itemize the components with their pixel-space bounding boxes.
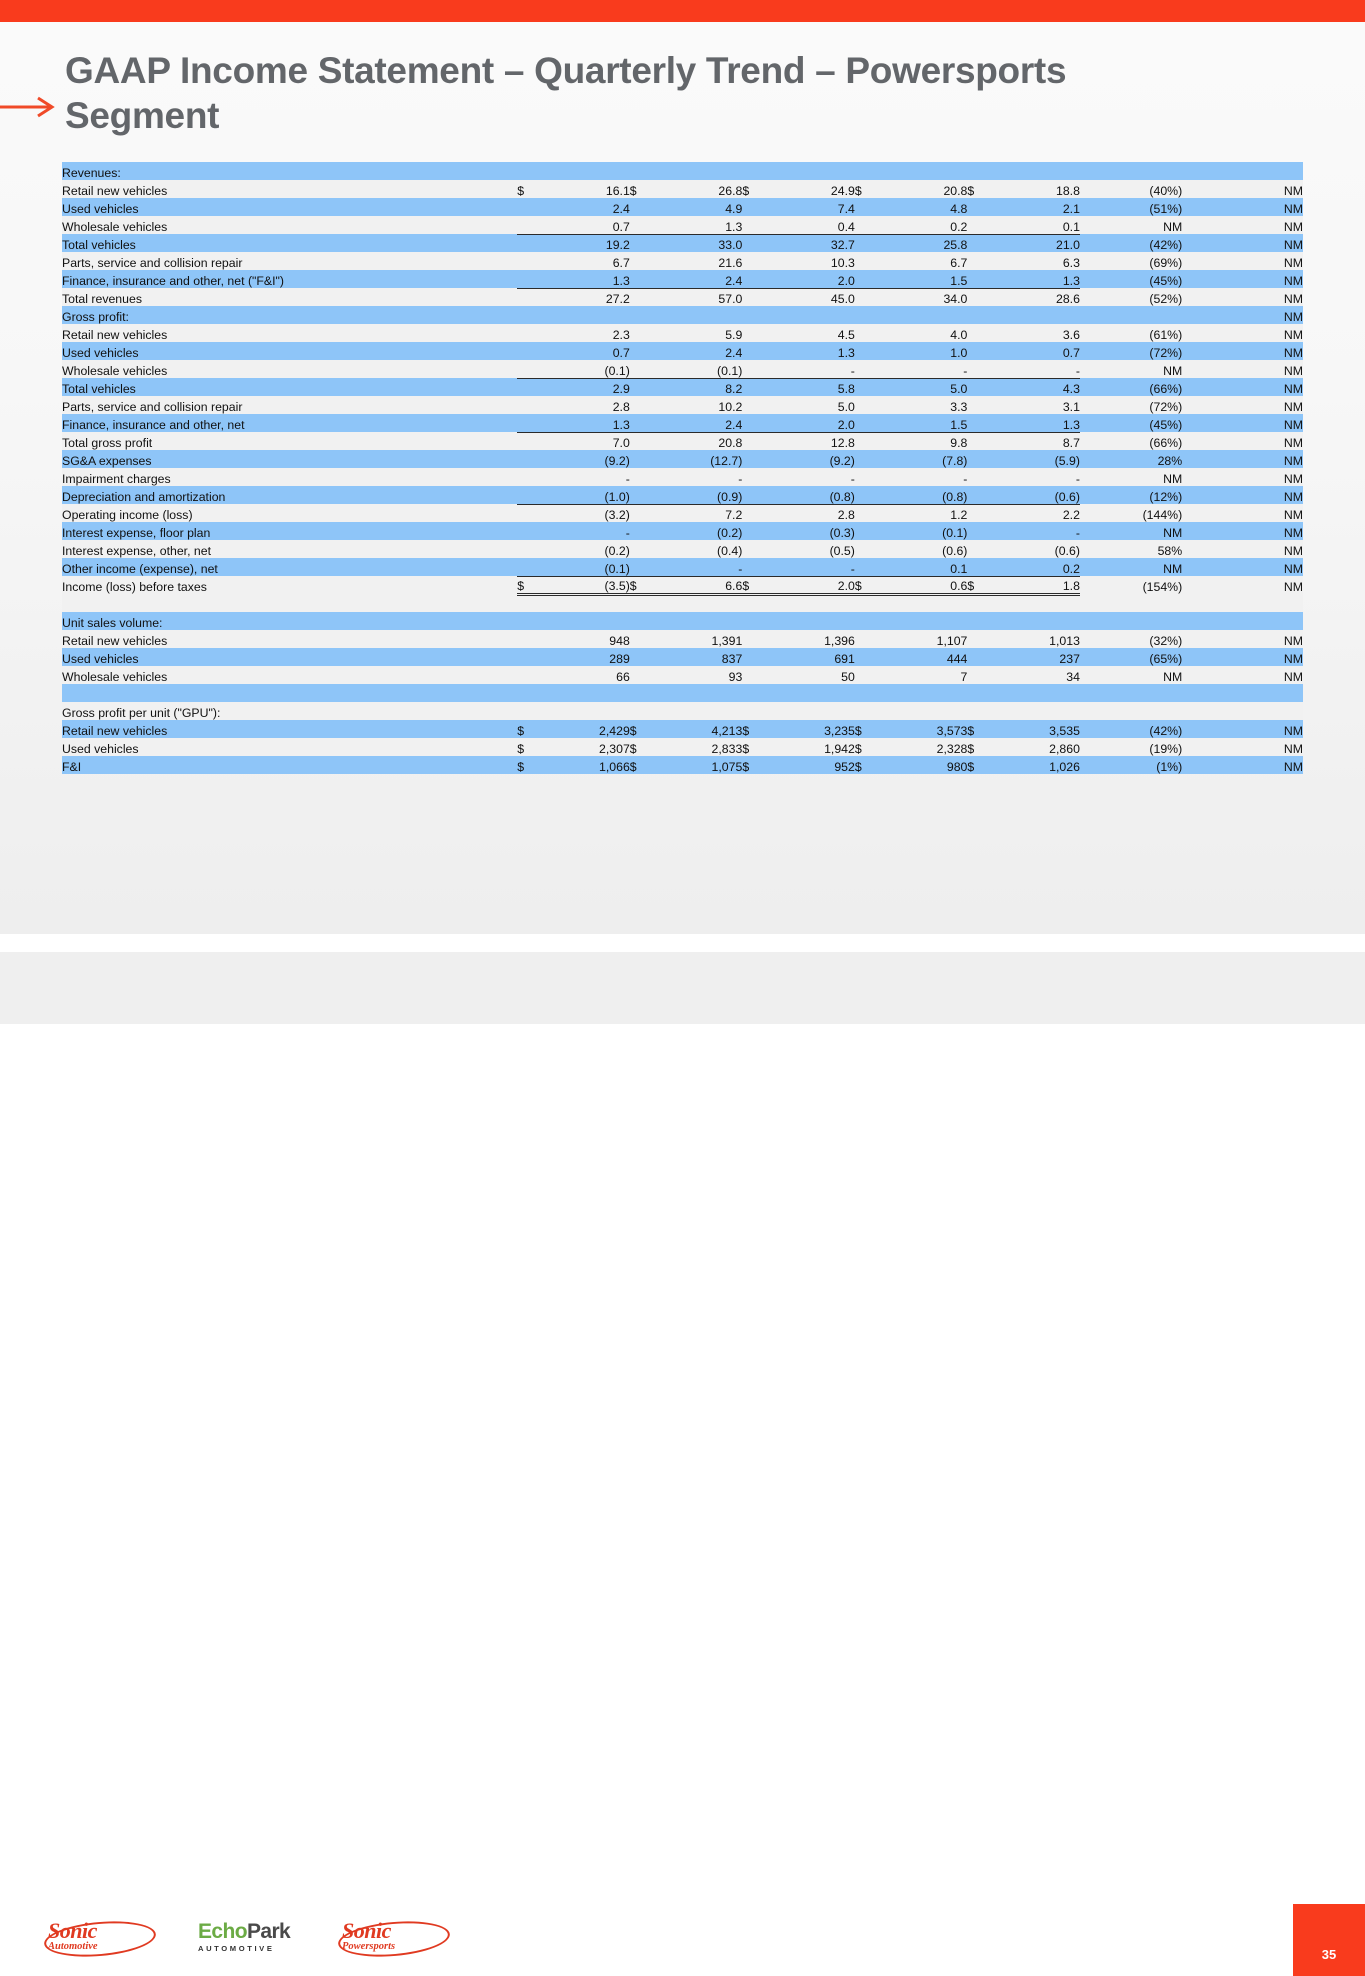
cell-sequential: (45%) [1080, 414, 1182, 432]
currency-symbol [630, 648, 653, 666]
table-row: Gross profit per unit ("GPU"): [62, 702, 1303, 720]
cell-value: 0.7 [540, 216, 630, 234]
cell-value [765, 162, 855, 180]
row-label [62, 684, 517, 702]
currency-symbol [855, 216, 878, 234]
cell-value: 6.3 [990, 252, 1080, 270]
currency-symbol [517, 612, 540, 630]
cell-value: 45.0 [765, 288, 855, 306]
row-label: Used vehicles [62, 648, 517, 666]
currency-symbol [855, 432, 878, 450]
currency-symbol [517, 378, 540, 396]
cell-year-over-year: NM [1182, 666, 1303, 684]
cell-value: 1.3 [540, 270, 630, 288]
currency-symbol [967, 342, 990, 360]
cell-year-over-year: NM [1182, 414, 1303, 432]
cell-sequential [1080, 612, 1182, 630]
cell-sequential [1080, 306, 1182, 324]
cell-year-over-year: NM [1182, 378, 1303, 396]
cell-value: 3.6 [990, 324, 1080, 342]
cell-value: 27.2 [540, 288, 630, 306]
row-label: SG&A expenses [62, 450, 517, 468]
currency-symbol [855, 504, 878, 522]
row-label: Retail new vehicles [62, 180, 517, 198]
cell-sequential: NM [1080, 522, 1182, 540]
cell-value: 4.5 [765, 324, 855, 342]
currency-symbol [855, 342, 878, 360]
cell-value: - [877, 468, 967, 486]
cell-sequential [1080, 702, 1182, 720]
currency-symbol [630, 666, 653, 684]
currency-symbol [742, 630, 765, 648]
cell-value [877, 612, 967, 630]
cell-sequential: (61%) [1080, 324, 1182, 342]
currency-symbol [630, 288, 653, 306]
cell-value: 28.6 [990, 288, 1080, 306]
echopark-automotive-logo: EchoPark AUTOMOTIVE [198, 1920, 300, 1960]
cell-value: 7.4 [765, 198, 855, 216]
currency-symbol [855, 612, 878, 630]
table-row: Total gross profit7.020.812.89.88.7(66%)… [62, 432, 1303, 450]
currency-symbol: $ [742, 720, 765, 738]
currency-symbol [630, 486, 653, 504]
currency-symbol [967, 378, 990, 396]
table-row: Used vehicles$2,307$2,833$1,942$2,328$2,… [62, 738, 1303, 756]
row-label: Retail new vehicles [62, 720, 517, 738]
cell-value: (3.5) [540, 576, 630, 594]
cell-value: 0.7 [990, 342, 1080, 360]
cell-value: 3.1 [990, 396, 1080, 414]
cell-value: 2.0 [765, 414, 855, 432]
currency-symbol [967, 666, 990, 684]
arrow-icon [0, 92, 60, 122]
cell-value: 24.9 [765, 180, 855, 198]
row-label: Used vehicles [62, 342, 517, 360]
cell-value: 1.3 [990, 270, 1080, 288]
currency-symbol: $ [630, 720, 653, 738]
cell-year-over-year: NM [1182, 540, 1303, 558]
cell-value: 6.7 [540, 252, 630, 270]
currency-symbol [967, 162, 990, 180]
cell-value: 5.0 [877, 378, 967, 396]
currency-symbol [742, 198, 765, 216]
cell-value: 33.0 [652, 234, 742, 252]
top-accent-bar [0, 0, 1365, 22]
cell-value: 2.0 [765, 576, 855, 594]
cell-sequential: (65%) [1080, 648, 1182, 666]
currency-symbol [967, 648, 990, 666]
currency-symbol [517, 432, 540, 450]
cell-value [652, 612, 742, 630]
row-label: Revenues: [62, 162, 517, 180]
cell-value [765, 612, 855, 630]
cell-sequential: 28% [1080, 450, 1182, 468]
currency-symbol [855, 306, 878, 324]
currency-symbol [855, 360, 878, 378]
currency-symbol [517, 306, 540, 324]
cell-sequential: NM [1080, 666, 1182, 684]
cell-value [652, 684, 742, 702]
cell-value: 2.3 [540, 324, 630, 342]
cell-value: 2.2 [990, 504, 1080, 522]
cell-value: (0.1) [877, 522, 967, 540]
cell-value [540, 612, 630, 630]
cell-value: (0.8) [765, 486, 855, 504]
currency-symbol [517, 558, 540, 576]
currency-symbol [967, 486, 990, 504]
cell-value: 237 [990, 648, 1080, 666]
currency-symbol [855, 378, 878, 396]
currency-symbol: $ [517, 756, 540, 774]
currency-symbol [630, 360, 653, 378]
cell-value: 0.2 [877, 216, 967, 234]
cell-sequential: (69%) [1080, 252, 1182, 270]
currency-symbol [967, 234, 990, 252]
row-label: Retail new vehicles [62, 324, 517, 342]
currency-symbol [630, 684, 653, 702]
cell-sequential: 58% [1080, 540, 1182, 558]
cell-value: 3,535 [990, 720, 1080, 738]
cell-value: (0.2) [540, 540, 630, 558]
cell-value: 2.4 [652, 270, 742, 288]
currency-symbol: $ [855, 738, 878, 756]
cell-sequential: (19%) [1080, 738, 1182, 756]
cell-value: - [540, 468, 630, 486]
currency-symbol: $ [967, 576, 990, 594]
footer-strip: Sonic Automotive EchoPark AUTOMOTIVE Son… [0, 952, 1365, 1024]
cell-sequential: (12%) [1080, 486, 1182, 504]
currency-symbol [855, 648, 878, 666]
cell-sequential: NM [1080, 216, 1182, 234]
currency-symbol: $ [742, 738, 765, 756]
currency-symbol [630, 234, 653, 252]
currency-symbol: $ [517, 720, 540, 738]
table-row: Other income (expense), net(0.1)--0.10.2… [62, 558, 1303, 576]
currency-symbol [742, 666, 765, 684]
cell-sequential [1080, 162, 1182, 180]
cell-value: 691 [765, 648, 855, 666]
cell-year-over-year: NM [1182, 738, 1303, 756]
cell-value: (9.2) [540, 450, 630, 468]
cell-value: 25.8 [877, 234, 967, 252]
currency-symbol [630, 558, 653, 576]
currency-symbol [742, 522, 765, 540]
cell-value: 2.9 [540, 378, 630, 396]
cell-value [990, 162, 1080, 180]
currency-symbol [855, 288, 878, 306]
cell-year-over-year: NM [1182, 558, 1303, 576]
row-label: Used vehicles [62, 198, 517, 216]
cell-year-over-year: NM [1182, 288, 1303, 306]
currency-symbol [742, 270, 765, 288]
cell-value [765, 702, 855, 720]
currency-symbol [742, 252, 765, 270]
cell-value: 4.0 [877, 324, 967, 342]
cell-value [540, 684, 630, 702]
cell-value [652, 702, 742, 720]
cell-value: 20.8 [877, 180, 967, 198]
currency-symbol [967, 522, 990, 540]
table-row: Retail new vehicles$2,429$4,213$3,235$3,… [62, 720, 1303, 738]
cell-value: 8.2 [652, 378, 742, 396]
currency-symbol: $ [742, 576, 765, 594]
currency-symbol [855, 198, 878, 216]
cell-value: 0.2 [990, 558, 1080, 576]
cell-value: 1.5 [877, 270, 967, 288]
cell-year-over-year: NM [1182, 450, 1303, 468]
cell-value: 16.1 [540, 180, 630, 198]
currency-symbol: $ [967, 180, 990, 198]
cell-value: (0.8) [877, 486, 967, 504]
row-label: Wholesale vehicles [62, 666, 517, 684]
currency-symbol [742, 558, 765, 576]
row-label: Retail new vehicles [62, 630, 517, 648]
currency-symbol [967, 558, 990, 576]
currency-symbol [855, 252, 878, 270]
currency-symbol: $ [855, 756, 878, 774]
currency-symbol [742, 684, 765, 702]
currency-symbol [855, 522, 878, 540]
cell-value: (9.2) [765, 450, 855, 468]
currency-symbol [967, 360, 990, 378]
cell-year-over-year: NM [1182, 216, 1303, 234]
cell-value: 0.6 [877, 576, 967, 594]
currency-symbol [742, 504, 765, 522]
row-label: Total revenues [62, 288, 517, 306]
cell-value: - [765, 468, 855, 486]
cell-year-over-year: NM [1182, 648, 1303, 666]
table-row: Total revenues27.257.045.034.028.6(52%)N… [62, 288, 1303, 306]
currency-symbol [967, 540, 990, 558]
cell-year-over-year: NM [1182, 342, 1303, 360]
table-row: Finance, insurance and other, net1.32.42… [62, 414, 1303, 432]
currency-symbol [855, 162, 878, 180]
cell-value: (0.4) [652, 540, 742, 558]
cell-value: 12.8 [765, 432, 855, 450]
cell-year-over-year [1182, 684, 1303, 702]
currency-symbol [742, 432, 765, 450]
currency-symbol [967, 468, 990, 486]
cell-value: 5.9 [652, 324, 742, 342]
currency-symbol [855, 684, 878, 702]
cell-value: 1,942 [765, 738, 855, 756]
cell-value: 93 [652, 666, 742, 684]
currency-symbol: $ [967, 756, 990, 774]
currency-symbol [517, 288, 540, 306]
cell-value: 0.7 [540, 342, 630, 360]
currency-symbol [517, 324, 540, 342]
currency-symbol [630, 378, 653, 396]
currency-symbol [517, 666, 540, 684]
cell-year-over-year: NM [1182, 324, 1303, 342]
logo-row: Sonic Automotive EchoPark AUTOMOTIVE Son… [48, 1914, 450, 1966]
cell-value: 3,573 [877, 720, 967, 738]
cell-year-over-year: NM [1182, 522, 1303, 540]
currency-symbol [630, 324, 653, 342]
row-label: Total gross profit [62, 432, 517, 450]
sonic-automotive-logo: Sonic Automotive [48, 1920, 156, 1960]
table-row: Interest expense, floor plan-(0.2)(0.3)(… [62, 522, 1303, 540]
cell-value [990, 702, 1080, 720]
cell-value: (0.6) [990, 486, 1080, 504]
cell-value [540, 162, 630, 180]
cell-value: 18.8 [990, 180, 1080, 198]
currency-symbol [855, 450, 878, 468]
currency-symbol [967, 414, 990, 432]
cell-value [877, 702, 967, 720]
currency-symbol [630, 468, 653, 486]
currency-symbol [630, 270, 653, 288]
cell-year-over-year: NM [1182, 486, 1303, 504]
currency-symbol [855, 324, 878, 342]
currency-symbol [855, 540, 878, 558]
currency-symbol: $ [742, 756, 765, 774]
currency-symbol [967, 396, 990, 414]
cell-value [877, 684, 967, 702]
table-row: Impairment charges-----NMNM [62, 468, 1303, 486]
cell-value: 2.1 [990, 198, 1080, 216]
currency-symbol [630, 594, 653, 612]
cell-value: 289 [540, 648, 630, 666]
currency-symbol [742, 414, 765, 432]
currency-symbol [517, 414, 540, 432]
currency-symbol [630, 198, 653, 216]
currency-symbol [967, 504, 990, 522]
row-label: Operating income (loss) [62, 504, 517, 522]
cell-value [765, 594, 855, 612]
cell-value: - [540, 522, 630, 540]
cell-value: - [652, 558, 742, 576]
cell-value: (0.5) [765, 540, 855, 558]
cell-year-over-year [1182, 702, 1303, 720]
table-row: Retail new vehicles$16.1$26.8$24.9$20.8$… [62, 180, 1303, 198]
cell-value: 8.7 [990, 432, 1080, 450]
row-label: Parts, service and collision repair [62, 396, 517, 414]
cell-sequential: (66%) [1080, 432, 1182, 450]
table-row: Gross profit:NM [62, 306, 1303, 324]
cell-value: 1,013 [990, 630, 1080, 648]
cell-value: (0.1) [540, 360, 630, 378]
cell-sequential: (42%) [1080, 234, 1182, 252]
table-row: Wholesale vehicles669350734NMNM [62, 666, 1303, 684]
currency-symbol [742, 234, 765, 252]
cell-value [652, 594, 742, 612]
currency-symbol [742, 450, 765, 468]
currency-symbol [630, 702, 653, 720]
currency-symbol [742, 594, 765, 612]
currency-symbol [742, 540, 765, 558]
cell-year-over-year: NM [1182, 360, 1303, 378]
cell-value: 1.3 [540, 414, 630, 432]
cell-value: 0.1 [990, 216, 1080, 234]
table-row: Used vehicles0.72.41.31.00.7(72%)NM [62, 342, 1303, 360]
currency-symbol [855, 594, 878, 612]
currency-symbol: $ [517, 738, 540, 756]
currency-symbol [630, 414, 653, 432]
cell-value [652, 162, 742, 180]
cell-sequential: (51%) [1080, 198, 1182, 216]
row-label: Wholesale vehicles [62, 360, 517, 378]
row-label: Used vehicles [62, 738, 517, 756]
cell-value [765, 684, 855, 702]
table-row: Operating income (loss)(3.2)7.22.81.22.2… [62, 504, 1303, 522]
cell-value: 0.1 [877, 558, 967, 576]
cell-value: 2.4 [652, 414, 742, 432]
cell-value: 2.0 [765, 270, 855, 288]
currency-symbol [517, 450, 540, 468]
table-row: Finance, insurance and other, net ("F&I"… [62, 270, 1303, 288]
cell-sequential: (52%) [1080, 288, 1182, 306]
cell-value: 26.8 [652, 180, 742, 198]
row-label: Finance, insurance and other, net ("F&I"… [62, 270, 517, 288]
currency-symbol [517, 252, 540, 270]
table-row: Depreciation and amortization(1.0)(0.9)(… [62, 486, 1303, 504]
currency-symbol [630, 252, 653, 270]
cell-sequential: (45%) [1080, 270, 1182, 288]
table-row: Wholesale vehicles(0.1)(0.1)---NMNM [62, 360, 1303, 378]
currency-symbol [517, 540, 540, 558]
table-row: Revenues: [62, 162, 1303, 180]
cell-value: (12.7) [652, 450, 742, 468]
cell-value: 5.0 [765, 396, 855, 414]
currency-symbol [967, 684, 990, 702]
table-row: Retail new vehicles2.35.94.54.03.6(61%)N… [62, 324, 1303, 342]
cell-year-over-year: NM [1182, 396, 1303, 414]
currency-symbol [517, 648, 540, 666]
currency-symbol [742, 288, 765, 306]
cell-value: 1.3 [765, 342, 855, 360]
cell-value: 1,026 [990, 756, 1080, 774]
row-label: Parts, service and collision repair [62, 252, 517, 270]
cell-value: 5.8 [765, 378, 855, 396]
currency-symbol [517, 630, 540, 648]
cell-value: 2,860 [990, 738, 1080, 756]
currency-symbol [742, 306, 765, 324]
currency-symbol [517, 486, 540, 504]
currency-symbol [967, 612, 990, 630]
row-label: Gross profit per unit ("GPU"): [62, 702, 517, 720]
currency-symbol [967, 702, 990, 720]
table-row: Used vehicles2.44.97.44.82.1(51%)NM [62, 198, 1303, 216]
page-number-badge: 35 [1293, 1904, 1365, 1976]
cell-value: 444 [877, 648, 967, 666]
table-row: Income (loss) before taxes$(3.5)$6.6$2.0… [62, 576, 1303, 594]
currency-symbol: $ [517, 576, 540, 594]
currency-symbol: $ [742, 180, 765, 198]
cell-year-over-year: NM [1182, 198, 1303, 216]
cell-sequential: (154%) [1080, 576, 1182, 594]
currency-symbol [517, 270, 540, 288]
currency-symbol: $ [967, 720, 990, 738]
currency-symbol [517, 468, 540, 486]
cell-value: 1,066 [540, 756, 630, 774]
currency-symbol [630, 450, 653, 468]
currency-symbol [630, 612, 653, 630]
row-label: Other income (expense), net [62, 558, 517, 576]
currency-symbol [967, 270, 990, 288]
table-row [62, 594, 1303, 612]
cell-value: (0.2) [652, 522, 742, 540]
cell-value: 980 [877, 756, 967, 774]
cell-value: 50 [765, 666, 855, 684]
slide-body: GAAP Income Statement – Quarterly Trend … [0, 22, 1365, 934]
currency-symbol [630, 342, 653, 360]
currency-symbol [967, 252, 990, 270]
cell-sequential: (1%) [1080, 756, 1182, 774]
currency-symbol [967, 594, 990, 612]
table-row: Total vehicles2.98.25.85.04.3(66%)NM [62, 378, 1303, 396]
cell-value: 1.2 [877, 504, 967, 522]
